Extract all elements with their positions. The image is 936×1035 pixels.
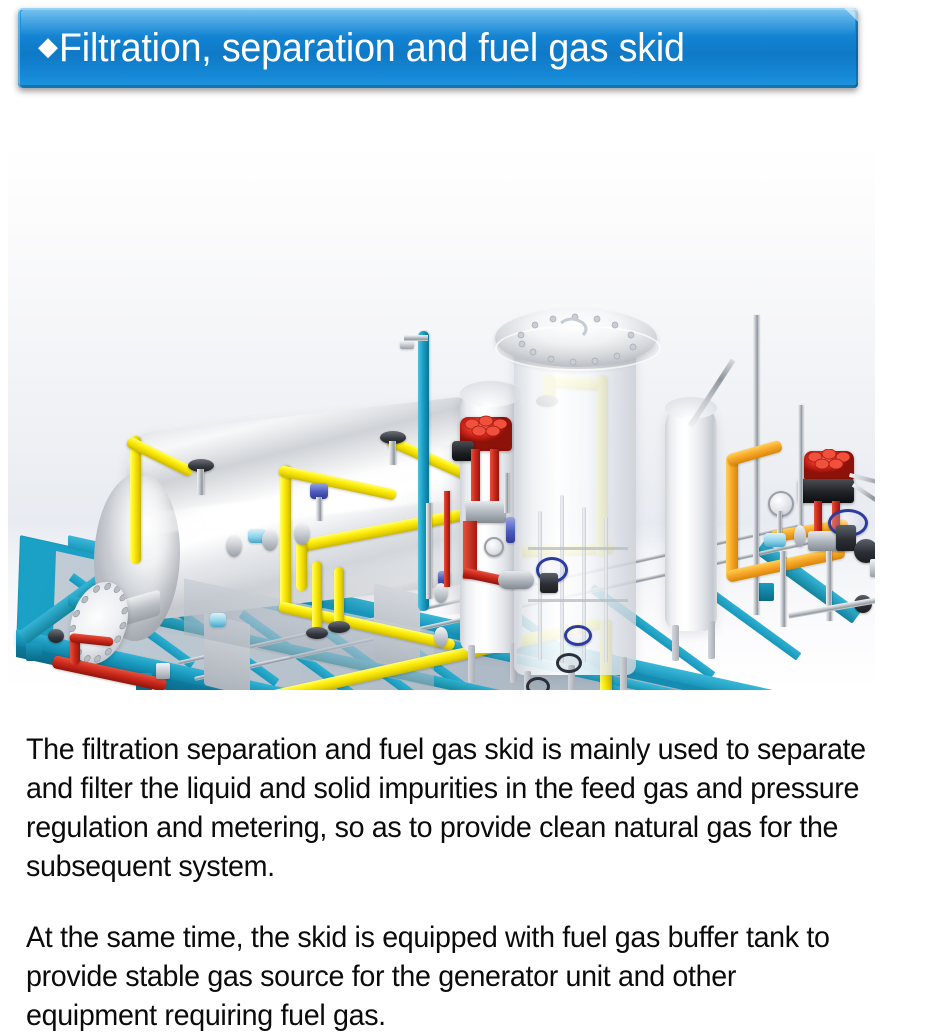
filter-element-internal <box>604 517 608 663</box>
filter-support-leg <box>620 657 627 690</box>
slide-title-banner: ◆ Filtration, separation and fuel gas sk… <box>18 8 858 88</box>
filter-internal-spacer <box>528 547 628 550</box>
actuator-fin-detail <box>804 449 854 471</box>
globe-valve-body <box>498 571 534 589</box>
pipe-end-flange <box>870 559 875 577</box>
vent-flange <box>400 341 414 349</box>
flow-meter <box>764 533 786 547</box>
instrument-transmitter <box>506 517 515 543</box>
process-pipe-yellow <box>280 465 291 611</box>
nozzle-flange <box>294 523 310 545</box>
vessel-nozzle <box>389 441 396 465</box>
filter-flange-bolts <box>495 309 657 367</box>
nozzle-flange <box>262 529 278 551</box>
pipe-flange-dark <box>306 627 328 639</box>
instrument-tubing-red <box>444 491 450 587</box>
nozzle-flange <box>794 525 806 547</box>
tank-support-leg <box>468 645 475 683</box>
skid-foot <box>26 643 42 661</box>
drain-valve-handwheel <box>526 677 550 690</box>
support-stand <box>426 503 432 599</box>
buffer-tank-left-head <box>460 381 522 407</box>
process-pipe-yellow <box>334 567 344 625</box>
actuator-housing-right <box>798 479 854 503</box>
control-valve-body-left <box>466 501 506 523</box>
actuator-tubing <box>852 483 875 505</box>
actuator-fin-detail <box>460 415 512 439</box>
gate-valve-body <box>540 573 558 593</box>
pressure-gauge-left <box>484 537 504 557</box>
support-stand <box>504 473 509 513</box>
fuel-gas-pipe-orange <box>726 455 738 581</box>
vessel-nozzle <box>197 469 204 495</box>
diamond-bullet-icon: ◆ <box>38 33 58 59</box>
support-stand <box>780 551 786 627</box>
gate-valve-body-right <box>836 525 856 551</box>
instrument-impulse-line <box>316 497 322 521</box>
description-paragraph-1: The filtration separation and fuel gas s… <box>26 730 872 886</box>
drain-pipe-flange <box>156 663 170 679</box>
skid-3d-scene <box>8 143 875 690</box>
support-stand <box>798 405 803 525</box>
nozzle-flange <box>226 535 242 557</box>
process-pipe-yellow <box>296 541 307 591</box>
actuator-yoke-stem <box>471 449 480 507</box>
drain-valve-cap <box>48 629 64 643</box>
pipe-flange-dark <box>328 621 350 633</box>
tank-support-leg <box>672 625 679 661</box>
skid-foot <box>758 583 774 601</box>
vent-valve-handwheel <box>564 625 592 646</box>
description-paragraph-2: At the same time, the skid is equipped w… <box>26 918 872 1035</box>
actuator-yoke-stem <box>490 449 499 507</box>
drain-indicator <box>210 613 226 627</box>
process-pipe-yellow <box>312 561 322 631</box>
gas-buffer-tank-right <box>665 401 717 631</box>
filter-internal-spacer <box>528 599 628 602</box>
drain-valve-handwheel <box>556 653 582 673</box>
process-pipe-yellow <box>130 436 141 564</box>
tank-support-leg <box>708 621 715 659</box>
product-render-figure <box>8 143 875 690</box>
page-title: Filtration, separation and fuel gas skid <box>59 28 685 68</box>
nozzle-flange <box>434 627 448 647</box>
